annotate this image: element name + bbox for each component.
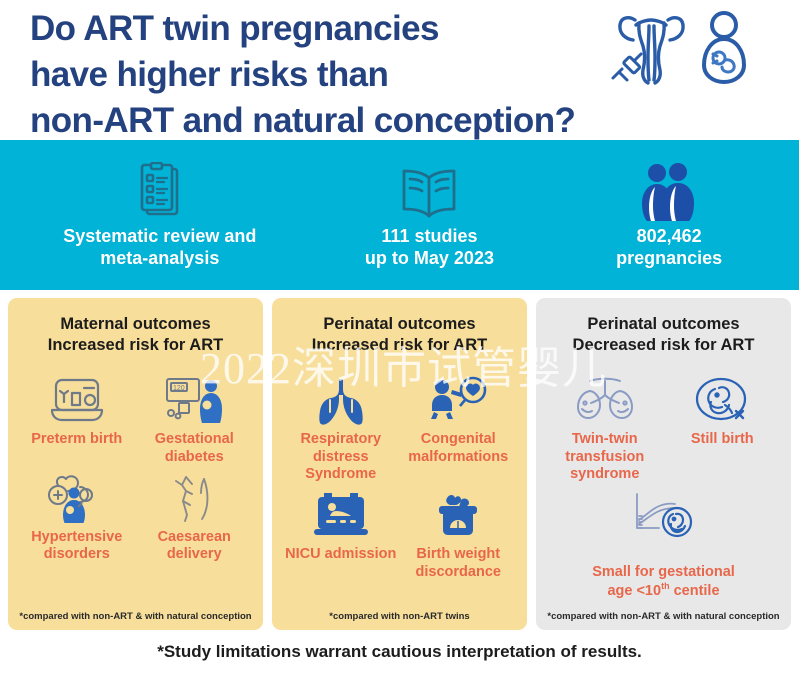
lungs-icon [312, 372, 370, 428]
svg-text:120: 120 [173, 385, 185, 392]
panel-title: Maternal outcomes Increased risk for ART [18, 314, 253, 356]
twin-fetuses-placenta-icon [570, 372, 640, 428]
outcome-item-hypertensive-disorders: Hypertensive disorders [18, 470, 136, 564]
baby-heart-magnifier-icon [427, 372, 489, 428]
page-title: Do ART twin pregnancies have higher risk… [30, 4, 575, 145]
outcome-item-ttts: Twin-twin transfusion syndrome [546, 372, 664, 483]
stat-label: 111 studies up to May 2023 [365, 226, 494, 269]
outcome-item-congenital-malformations: Congenital malformations [400, 372, 518, 483]
stat-label: 802,462 pregnancies [616, 226, 722, 269]
outcome-item-gestational-diabetes: 120 Gestational diabetes [136, 372, 254, 466]
panel-footnote: *compared with non-ART & with natural co… [18, 611, 253, 624]
outcome-label: Twin-twin transfusion syndrome [565, 431, 644, 483]
sga-label-superscript: th [661, 581, 669, 591]
outcome-item-birth-weight-discordance: Birth weight discordance [400, 487, 518, 581]
outcome-item-caesarean-delivery: Caesarean delivery [136, 470, 254, 564]
outcome-label: Hypertensive disorders [31, 529, 122, 564]
stats-band: Systematic review and meta-analysis 111 … [0, 140, 799, 290]
growth-chart-fetus-icon [627, 487, 701, 543]
outcome-label: Birth weight discordance [416, 546, 501, 581]
header-icon-group [605, 4, 779, 91]
nicu-incubator-icon [312, 487, 370, 543]
title-line-3: non-ART and natural conception? [30, 98, 575, 144]
stat-systematic-review: Systematic review and meta-analysis [10, 160, 310, 269]
header: Do ART twin pregnancies have higher risk… [0, 0, 799, 140]
caesarean-scar-icon [168, 470, 220, 526]
title-line-1: Do ART twin pregnancies [30, 6, 575, 52]
outcome-label: Gestational diabetes [155, 431, 234, 466]
outcome-label: Still birth [691, 431, 754, 448]
panel-perinatal-increased: Perinatal outcomes Increased risk for AR… [272, 298, 527, 630]
outcome-item-small-for-gestational-age: Small for gestational age <10th centile [546, 487, 781, 600]
open-book-icon [396, 160, 462, 222]
panel-footnote: *compared with non-ART twins [282, 611, 517, 624]
outcome-item-respiratory-distress: Respiratory distress Syndrome [282, 372, 400, 483]
panel-title: Perinatal outcomes Increased risk for AR… [282, 314, 517, 356]
outcome-label: Preterm birth [31, 431, 122, 448]
stillbirth-fetus-cross-icon [691, 372, 753, 428]
blood-pressure-pregnant-icon [46, 470, 108, 526]
outcome-label: Congenital malformations [408, 431, 508, 466]
panel-perinatal-decreased: Perinatal outcomes Decreased risk for AR… [536, 298, 791, 630]
footer-disclaimer: *Study limitations warrant cautious inte… [157, 642, 642, 662]
stat-studies-count: 111 studies up to May 2023 [310, 160, 550, 269]
outcome-label: Caesarean delivery [158, 529, 231, 564]
uterus-syringe-icon [605, 10, 691, 91]
outcome-item-still-birth: Still birth [664, 372, 782, 483]
outcome-label: Small for gestational age <10th centile [592, 546, 735, 600]
stat-pregnancies-count: 802,462 pregnancies [549, 160, 789, 269]
baby-weight-scale-icon [431, 487, 485, 543]
footer: *Study limitations warrant cautious inte… [0, 630, 799, 674]
outcome-item-preterm-birth: Preterm birth [18, 372, 136, 466]
clipboard-checklist-icon [136, 160, 184, 222]
sga-label-suffix: centile [670, 583, 720, 599]
panel-items: Twin-twin transfusion syndrome [546, 362, 781, 611]
panel-maternal-increased: Maternal outcomes Increased risk for ART [8, 298, 263, 630]
outcome-panels: Maternal outcomes Increased risk for ART [0, 290, 799, 630]
pregnant-woman-icon [697, 10, 751, 91]
title-line-2: have higher risks than [30, 52, 575, 98]
panel-items: Preterm birth 120 [18, 362, 253, 611]
glucose-monitor-pregnant-icon: 120 [163, 372, 225, 428]
panel-items: Respiratory distress Syndrome [282, 362, 517, 611]
two-pregnant-people-icon [638, 160, 700, 222]
outcome-label: NICU admission [285, 546, 396, 563]
outcome-label: Respiratory distress Syndrome [282, 431, 400, 483]
stat-label: Systematic review and meta-analysis [63, 226, 256, 269]
incubator-icon [48, 372, 106, 428]
outcome-item-nicu-admission: NICU admission [282, 487, 400, 581]
panel-footnote: *compared with non-ART & with natural co… [546, 611, 781, 624]
panel-title: Perinatal outcomes Decreased risk for AR… [546, 314, 781, 356]
